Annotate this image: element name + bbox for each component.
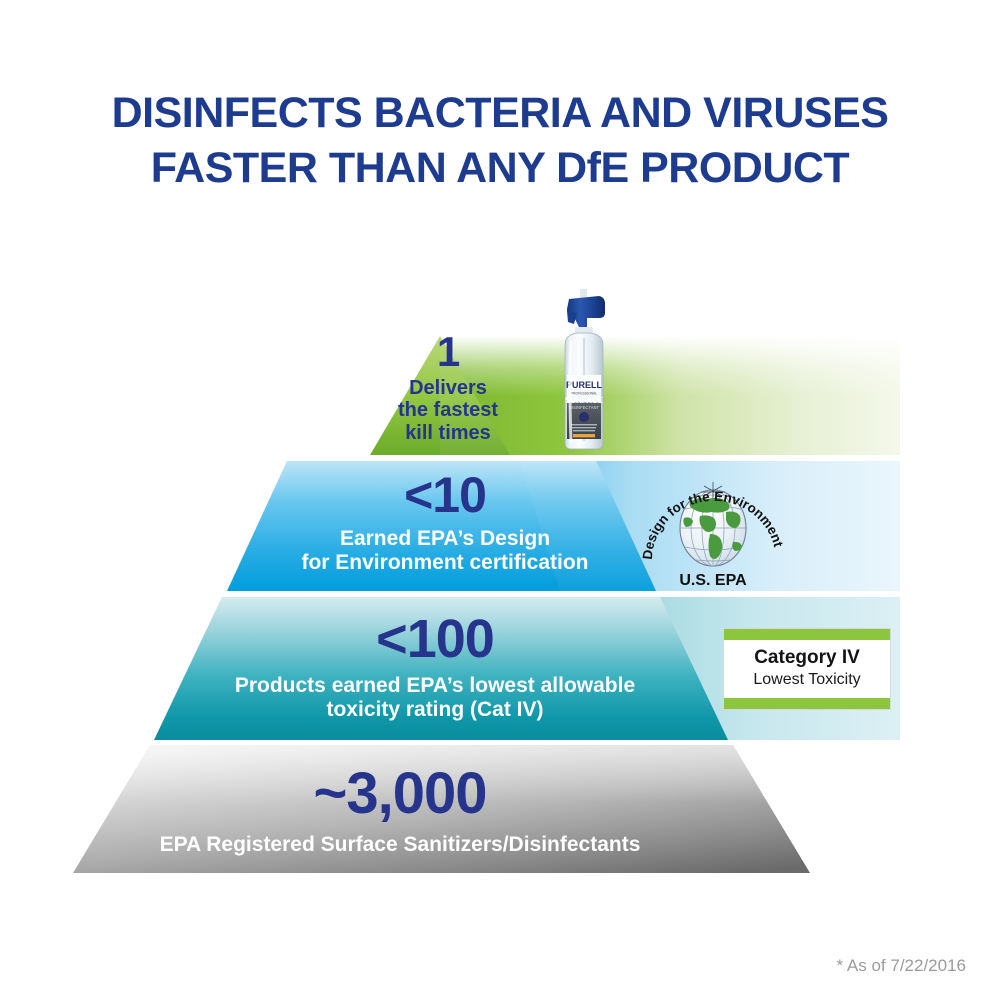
level-1-label: Delivers the fastest kill times bbox=[378, 377, 518, 444]
badge-bottom-bar bbox=[724, 698, 890, 709]
bottle-highlight bbox=[570, 341, 571, 443]
level-3-label: Products earned EPA’s lowest allowable t… bbox=[175, 674, 695, 721]
bottle-orange-strip bbox=[573, 434, 595, 437]
pyramid-level-3-text: <100 Products earned EPA’s lowest allowa… bbox=[175, 612, 695, 721]
pyramid-level-4-text: ~3,000 EPA Registered Surface Sanitizers… bbox=[90, 765, 710, 857]
level-1-value: 1 bbox=[378, 331, 518, 373]
bottle-seal-badge bbox=[579, 412, 589, 422]
badge-title: Category IV bbox=[728, 647, 886, 669]
purell-spray-bottle-image: PURELL PROFESSIONAL SURFACE DISINFECTANT bbox=[543, 283, 625, 455]
pyramid-level-2-text: <10 Earned EPA’s Design for Environment … bbox=[255, 470, 635, 574]
dfe-agency-text: U.S. EPA bbox=[679, 572, 747, 589]
level-4-label-line-1: EPA Registered Surface Sanitizers/Disinf… bbox=[90, 833, 710, 857]
level-2-value: <10 bbox=[255, 470, 635, 520]
badge-subtitle: Lowest Toxicity bbox=[728, 671, 886, 689]
bottle-fineprint bbox=[571, 424, 597, 431]
bottle-disinfectant-text: DISINFECTANT bbox=[569, 405, 600, 410]
badge-body: Category IV Lowest Toxicity bbox=[724, 640, 890, 698]
badge-top-bar bbox=[724, 629, 890, 640]
level-4-label: EPA Registered Surface Sanitizers/Disinf… bbox=[90, 833, 710, 857]
level-3-label-line-1: Products earned EPA’s lowest allowable bbox=[175, 674, 695, 698]
level-1-label-line-2: the fastest bbox=[378, 399, 518, 421]
infographic-canvas: DISINFECTS BACTERIA AND VIRUSES FASTER T… bbox=[0, 0, 1000, 1000]
level-2-label-line-1: Earned EPA’s Design bbox=[255, 527, 635, 551]
level-2-label-line-2: for Environment certification bbox=[255, 551, 635, 575]
category-iv-badge: Category IV Lowest Toxicity bbox=[723, 628, 891, 710]
footnote: * As of 7/22/2016 bbox=[837, 956, 967, 976]
level-4-value: ~3,000 bbox=[90, 765, 710, 823]
level-1-label-line-3: kill times bbox=[378, 422, 518, 444]
dfe-seal-icon: Design for the Environment U.S. EPA bbox=[638, 472, 788, 594]
bottle-professional-text: PROFESSIONAL bbox=[571, 392, 597, 396]
level-2-label: Earned EPA’s Design for Environment cert… bbox=[255, 527, 635, 574]
level-3-label-line-2: toxicity rating (Cat IV) bbox=[175, 698, 695, 722]
level-1-label-line-1: Delivers bbox=[378, 377, 518, 399]
pyramid-level-1-text: 1 Delivers the fastest kill times bbox=[378, 331, 518, 444]
bottle-trigger-lever bbox=[567, 311, 577, 324]
level-3-value: <100 bbox=[175, 612, 695, 666]
